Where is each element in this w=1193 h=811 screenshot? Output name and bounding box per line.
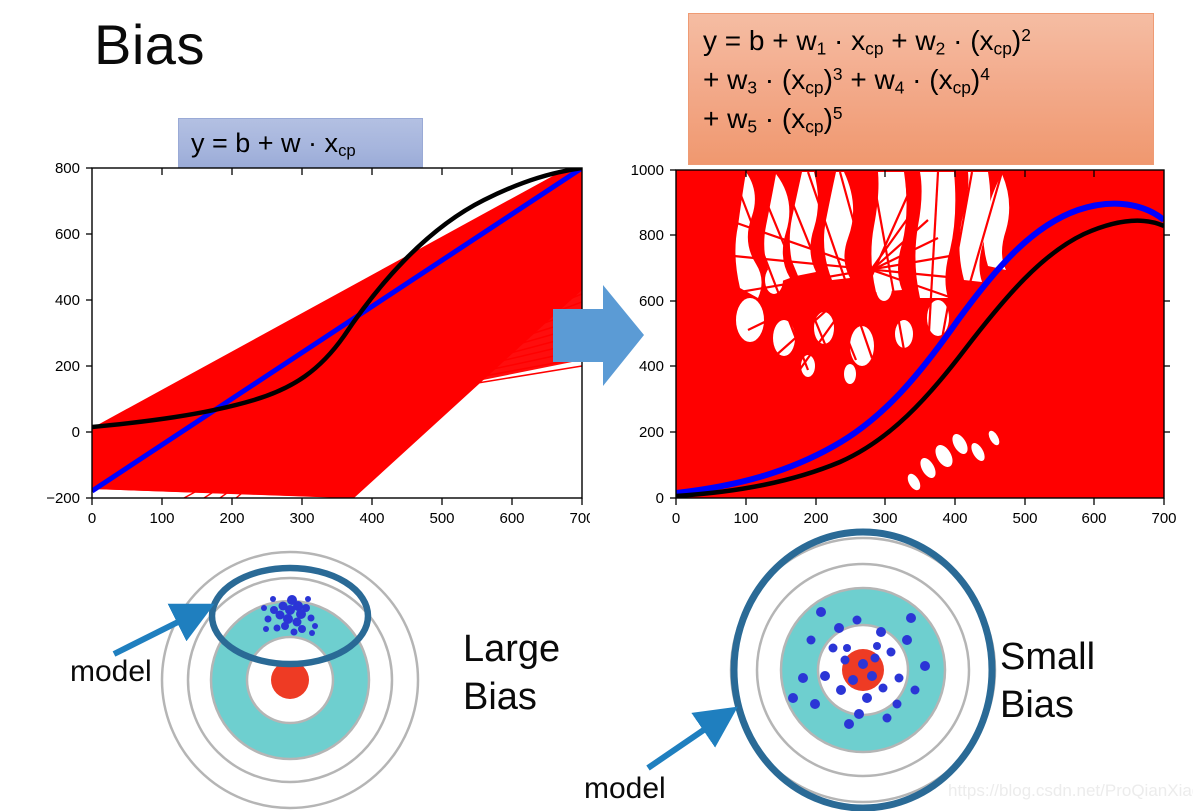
small-bias-target [715,528,1015,811]
left-x-tick-600: 600 [499,510,524,527]
arrow-shaft [114,608,206,654]
polynomial-equation-box: y = b + w1 · xcp + w2 · (xcp)2 + w3 · (x… [688,13,1154,165]
model-label-right: model [584,772,666,806]
model-label-left: model [70,655,152,689]
right-x-tick-400: 400 [942,510,967,527]
left-x-tick-300: 300 [289,510,314,527]
left-x-tick-700: 700 [569,510,590,527]
linear-equation-subscript: cp [338,141,356,160]
left-x-tick-500: 500 [429,510,454,527]
right-x-tick-700: 700 [1151,510,1176,527]
page-title: Bias [94,16,205,75]
large-bias-caption-line1: Large [463,626,560,674]
small-bias-caption: Small Bias [1000,634,1095,729]
linear-equation-text: y = b + w · xcp [191,128,356,158]
right-y-tick-400: 400 [639,358,664,375]
right-y-tick-200: 200 [639,424,664,441]
left-model-plot: 800 600 400 200 0 −200 [24,160,590,535]
left-y-tick-600: 600 [55,226,80,243]
right-y-tick-1000: 1000 [631,162,664,179]
left-y-tick-neg200: −200 [46,490,80,507]
right-plot-svg: 1000 800 600 400 200 0 [628,160,1184,535]
right-y-tick-0: 0 [656,490,664,507]
left-y-tick-400: 400 [55,292,80,309]
linear-equation-body: y = b + w · x [191,128,338,158]
left-y-tick-0: 0 [72,424,80,441]
arrow-shaft [648,712,730,768]
polynomial-equation-line-3: + w5 · (xcp)5 [703,100,1153,139]
right-x-tick-100: 100 [733,510,758,527]
large-bias-target [140,540,460,811]
left-x-tick-100: 100 [149,510,174,527]
large-bias-caption: Large Bias [463,626,560,721]
right-y-tick-600: 600 [639,293,664,310]
model-callout-arrow-right [630,700,760,780]
left-x-tick-400: 400 [359,510,384,527]
right-x-tick-600: 600 [1081,510,1106,527]
watermark-text: https://blog.csdn.net/ProQianXiao [948,781,1193,801]
right-y-tick-800: 800 [639,227,664,244]
right-x-tick-300: 300 [872,510,897,527]
polynomial-equation-line-2: + w3 · (xcp)3 + w4 · (xcp)4 [703,61,1153,100]
left-x-tick-0: 0 [88,510,96,527]
small-bias-caption-line2: Bias [1000,682,1095,730]
left-y-tick-800: 800 [55,160,80,177]
large-bias-caption-line2: Bias [463,674,560,722]
polynomial-equation-line-1: y = b + w1 · xcp + w2 · (xcp)2 [703,22,1153,61]
right-x-tick-0: 0 [672,510,680,527]
small-bias-caption-line1: Small [1000,634,1095,682]
right-model-plot: 1000 800 600 400 200 0 [628,160,1184,535]
left-y-axis: 800 600 400 200 0 −200 [46,160,92,507]
left-y-tick-200: 200 [55,358,80,375]
right-x-tick-500: 500 [1012,510,1037,527]
left-x-tick-200: 200 [219,510,244,527]
right-x-tick-200: 200 [803,510,828,527]
left-plot-svg: 800 600 400 200 0 −200 [24,160,590,535]
slide-canvas: Bias y = b + w · xcp y = b + w1 · xcp + … [0,0,1193,811]
